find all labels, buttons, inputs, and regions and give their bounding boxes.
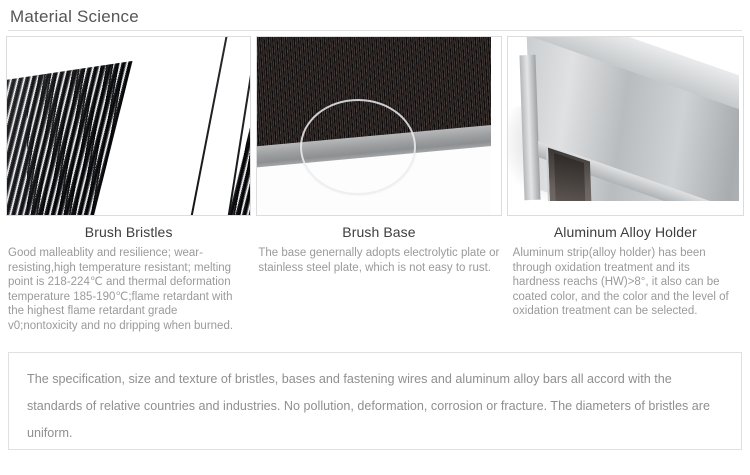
bristle-fan-illustration <box>7 37 250 215</box>
material-description: Good malleablity and resilience; wear-re… <box>6 246 251 334</box>
material-description: Aluminum strip(alloy holder) has been th… <box>507 246 744 319</box>
page-title: Material Science <box>10 6 750 28</box>
page-header: Material Science <box>0 0 750 32</box>
base-right-background <box>491 37 501 215</box>
aluminum-bottom-mask <box>508 201 743 215</box>
material-columns: Brush Bristles Good malleablity and resi… <box>0 36 750 334</box>
aluminum-right-mask <box>739 37 743 215</box>
highlight-circle-icon <box>300 99 416 195</box>
material-science-page: Material Science Brush Bristles Good mal… <box>0 0 750 475</box>
material-card-bristles: Brush Bristles Good malleablity and resi… <box>6 36 251 334</box>
aluminum-alloy-holder-photo <box>507 36 744 216</box>
specification-note-box: The specification, size and texture of b… <box>8 352 742 450</box>
material-description: The base genernally adopts electrolytic … <box>256 246 501 275</box>
header-divider <box>8 30 742 31</box>
brush-bristles-photo <box>6 36 251 216</box>
material-card-holder: Aluminum Alloy Holder Aluminum strip(all… <box>507 36 744 334</box>
material-card-base: Brush Base The base genernally adopts el… <box>256 36 501 334</box>
specification-note-text: The specification, size and texture of b… <box>9 353 741 447</box>
material-caption: Brush Base <box>256 223 501 241</box>
brush-base-photo <box>256 36 501 216</box>
material-caption: Brush Bristles <box>6 223 251 241</box>
aluminum-channel-illustration <box>508 37 743 215</box>
brush-base-illustration <box>257 37 500 215</box>
material-caption: Aluminum Alloy Holder <box>507 223 744 241</box>
